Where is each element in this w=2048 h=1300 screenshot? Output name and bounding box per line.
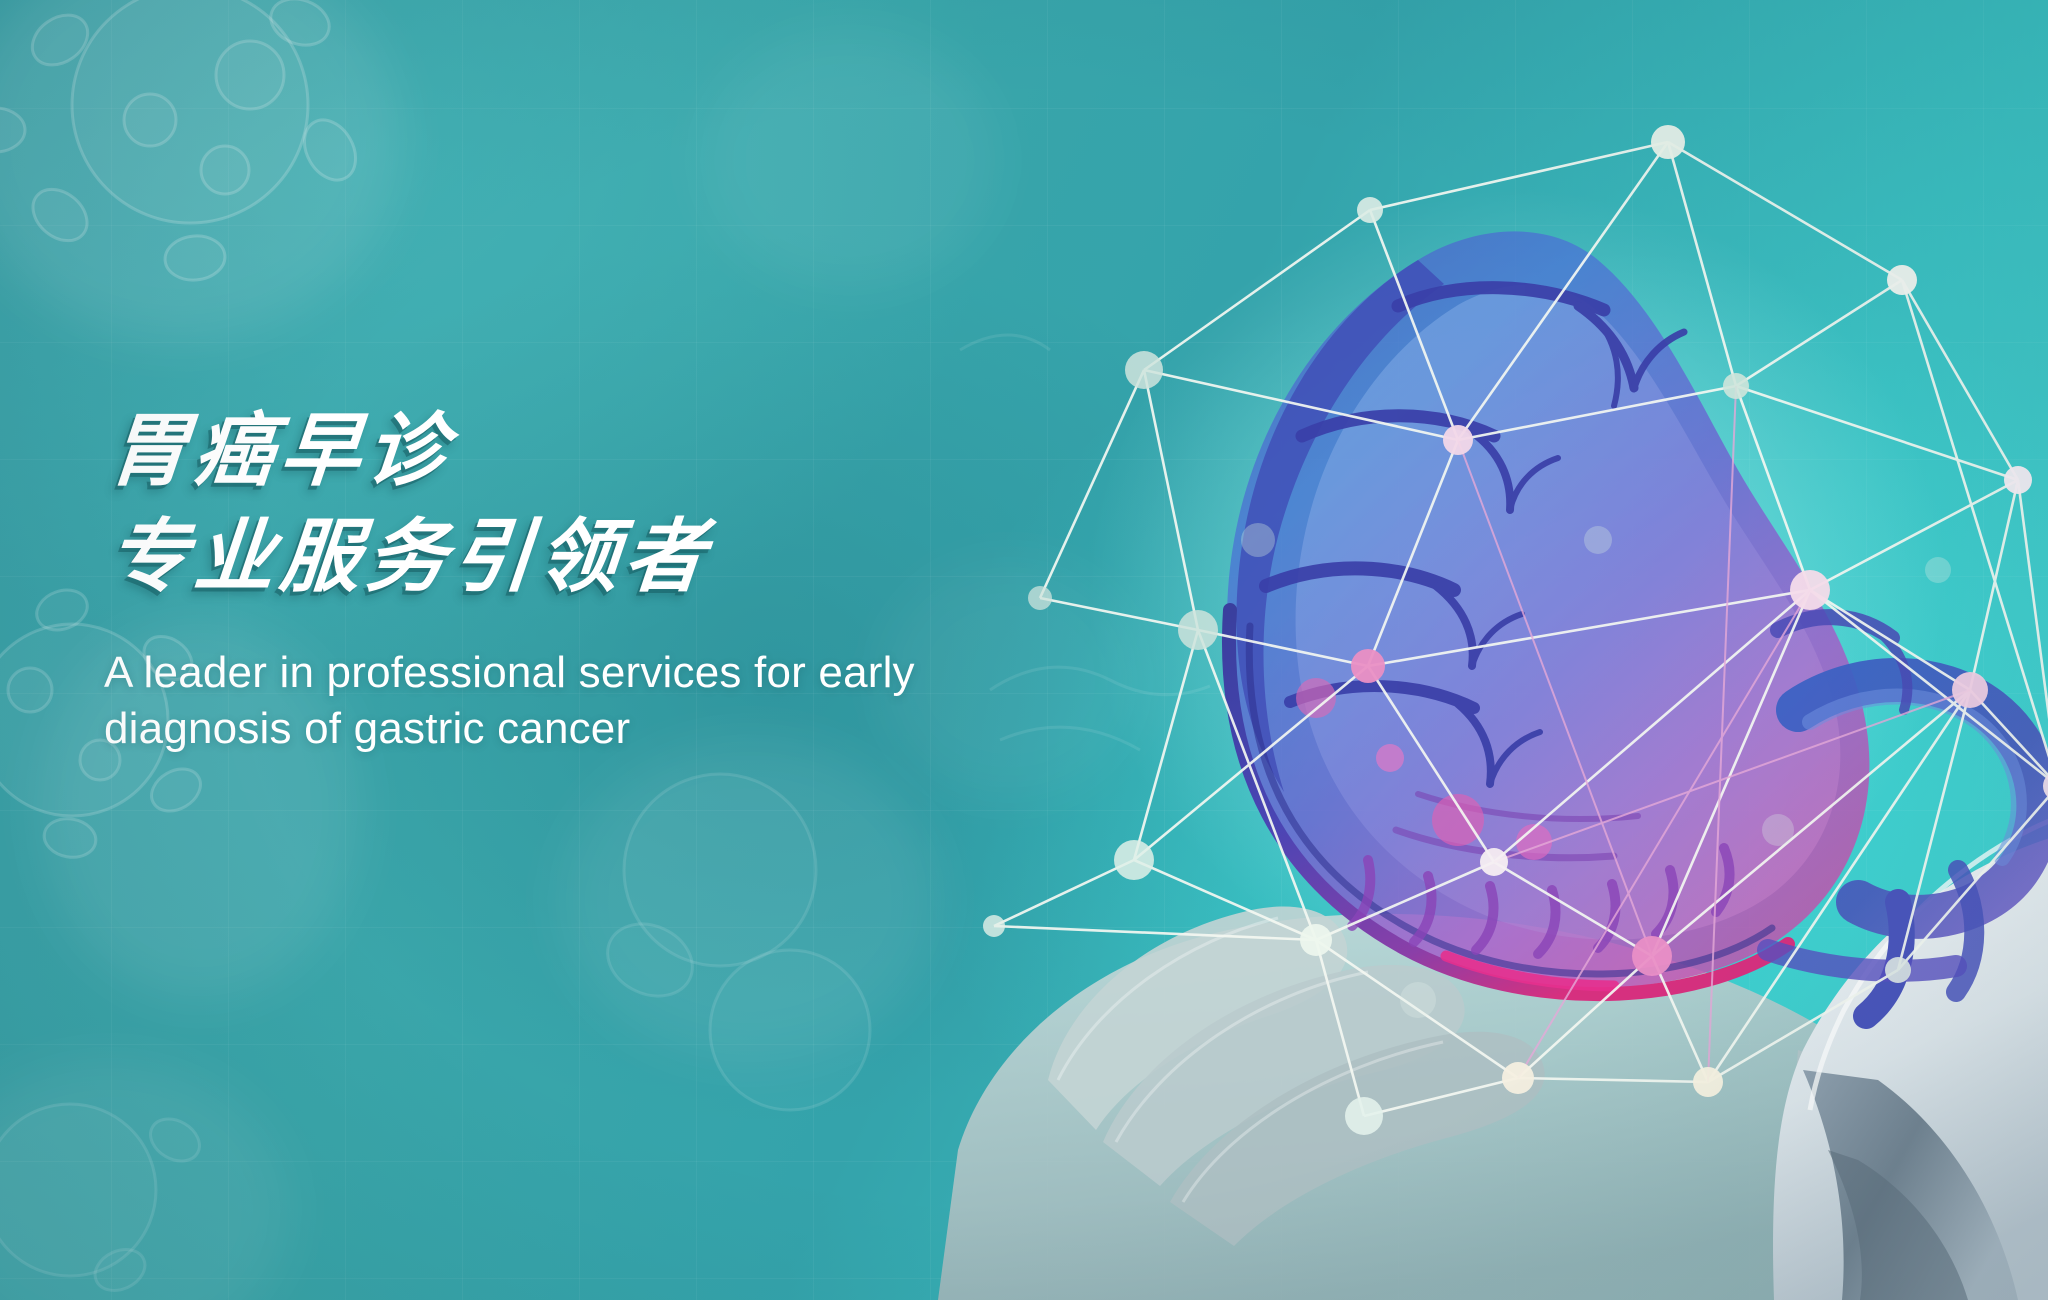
headline-cn-line-2: 专业服务引领者 (104, 506, 1113, 608)
headline-block: 胃癌早诊 专业服务引领者 A leader in professional se… (104, 400, 1104, 757)
subheadline-en-line-2: diagnosis of gastric cancer (104, 701, 1104, 757)
headline-cn-line-1: 胃癌早诊 (104, 400, 1113, 502)
banner-root: 胃癌早诊 专业服务引领者 A leader in professional se… (0, 0, 2048, 1300)
subheadline-en-line-1: A leader in professional services for ea… (104, 645, 1104, 701)
subheadline-en: A leader in professional services for ea… (104, 645, 1104, 758)
